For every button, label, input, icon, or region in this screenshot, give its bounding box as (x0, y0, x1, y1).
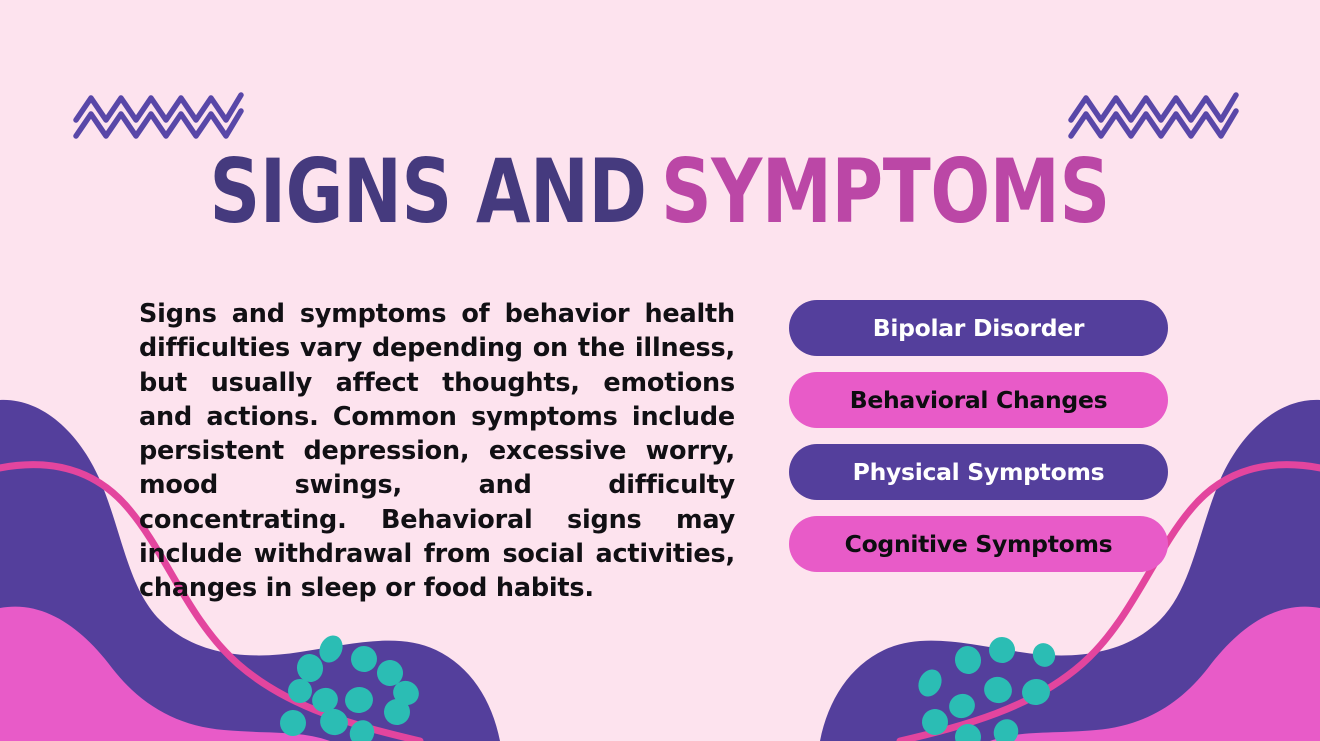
title-part-dark: SIGNS AND (210, 140, 647, 243)
pill-behavioral-changes[interactable]: Behavioral Changes (789, 372, 1168, 428)
zigzag-right-icon (1071, 95, 1236, 136)
pill-cognitive-symptoms[interactable]: Cognitive Symptoms (789, 516, 1168, 572)
pill-label: Bipolar Disorder (873, 314, 1084, 342)
body-paragraph: Signs and symptoms of behavior health di… (139, 297, 735, 606)
zigzag-left-icon (76, 95, 241, 136)
teal-dot-cluster-left (276, 632, 423, 741)
page-title: SIGNS ANDSYMPTOMS (0, 148, 1320, 236)
title-part-pink: SYMPTOMS (661, 140, 1110, 243)
pill-physical-symptoms[interactable]: Physical Symptoms (789, 444, 1168, 500)
symptom-category-list: Bipolar Disorder Behavioral Changes Phys… (789, 300, 1168, 572)
pill-bipolar-disorder[interactable]: Bipolar Disorder (789, 300, 1168, 356)
presentation-slide: SIGNS ANDSYMPTOMS Signs and symptoms of … (0, 0, 1320, 741)
pill-label: Behavioral Changes (850, 386, 1108, 414)
pill-label: Cognitive Symptoms (845, 530, 1113, 558)
pill-label: Physical Symptoms (853, 458, 1105, 486)
teal-dot-cluster-right (914, 635, 1059, 741)
